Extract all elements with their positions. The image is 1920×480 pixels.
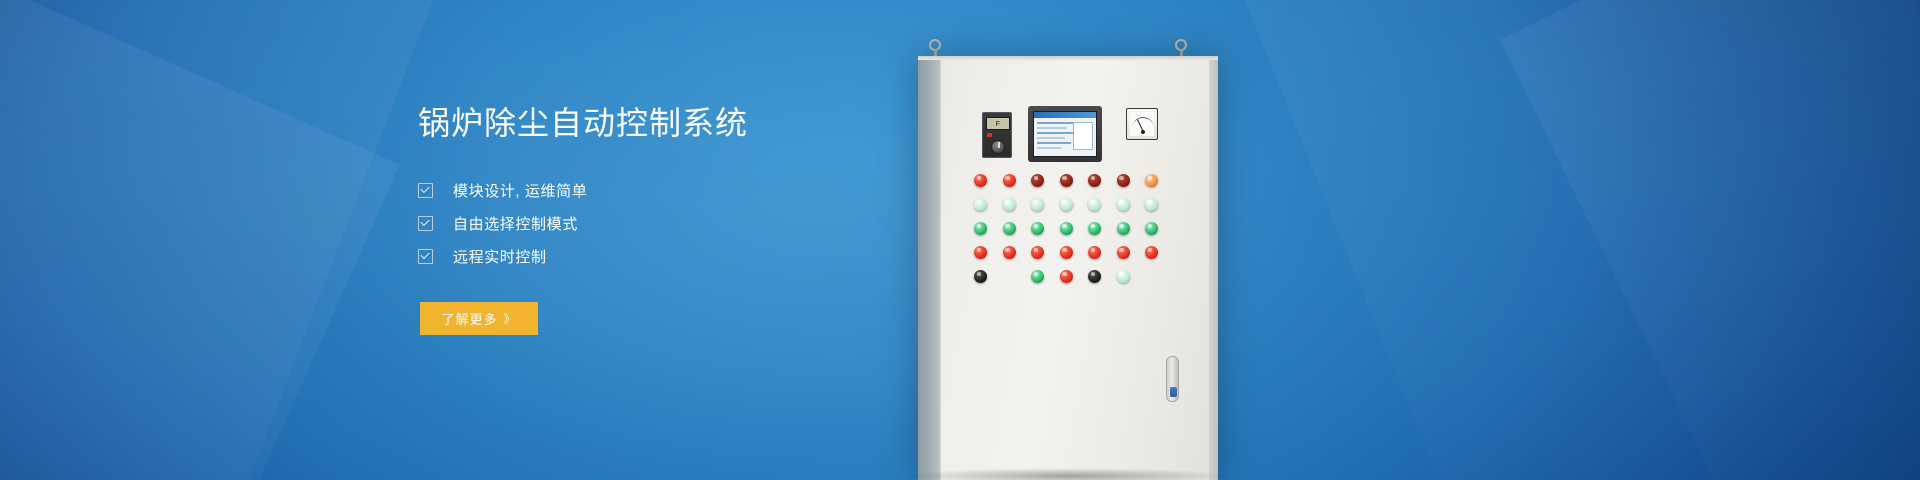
feature-list: 模块设计, 运维简单 自由选择控制模式 远程实时控制 [418,174,938,273]
learn-more-label: 了解更多 [441,309,497,328]
cabinet-right-edge [1209,56,1218,480]
analog-meter [1126,108,1158,140]
lock-icon[interactable] [1170,387,1177,397]
indicator-lamp-none [1003,270,1016,283]
indicator-lamp-red[interactable] [1060,270,1073,283]
indicator-lamp-green[interactable] [1031,270,1044,283]
indicator-lamp-red[interactable] [974,174,987,187]
indicator-lamp-black[interactable] [974,270,987,283]
hero-copy-block: 锅炉除尘自动控制系统 模块设计, 运维简单 自由选择控制模式 远程实时控制 [418,100,938,335]
frequency-display-module[interactable]: F 50.0 [982,112,1012,158]
indicator-lamp-lgreen[interactable] [1117,198,1130,211]
indicator-lamp-green[interactable] [1031,222,1044,235]
indicator-lamp-red[interactable] [1117,246,1130,259]
background-light-streak [1500,0,1920,480]
indicator-lamp-dred[interactable] [1031,174,1044,187]
hmi-screen[interactable] [1033,111,1097,157]
control-cabinet-body: F 50.0 [918,56,1218,480]
indicator-lamp-green[interactable] [974,222,987,235]
list-item-label: 模块设计, 运维简单 [453,180,587,201]
indicator-lamp-green[interactable] [1117,222,1130,235]
list-item: 远程实时控制 [418,240,938,273]
indicator-lamp-green[interactable] [1088,222,1101,235]
cabinet-floor-shadow [906,468,1230,480]
indicator-lamp-dred[interactable] [1060,174,1073,187]
list-item-label: 远程实时控制 [453,246,547,267]
checkbox-check-icon [418,249,433,264]
indicator-lamp-red[interactable] [1003,246,1016,259]
indicator-lamp-lgreen[interactable] [1088,198,1101,211]
lamp-row [974,246,1174,259]
hmi-side-panel [1073,122,1093,150]
lamp-row [974,198,1174,211]
indicator-lamp-green[interactable] [1003,222,1016,235]
indicator-lamp-dred[interactable] [1117,174,1130,187]
hmi-touchscreen[interactable] [1028,106,1102,162]
meter-hub [1141,130,1145,134]
power-led-icon [987,133,992,137]
indicator-lamp-lgreen[interactable] [1031,198,1044,211]
cabinet-door-handle[interactable] [1166,356,1179,402]
indicator-lamp-none [1145,270,1158,283]
indicator-lamp-lgreen[interactable] [1117,270,1130,283]
cabinet-door-seam [940,56,941,480]
lamp-row [974,270,1174,283]
indicator-lamp-red[interactable] [1031,246,1044,259]
indicator-lamp-lgreen[interactable] [1145,198,1158,211]
cabinet-hinge-strip [918,56,940,480]
checkbox-check-icon [418,183,433,198]
hmi-text-row [1037,132,1073,134]
checkbox-check-icon [418,216,433,231]
list-item: 自由选择控制模式 [418,207,938,240]
hmi-text-row [1037,137,1065,139]
indicator-lamp-red[interactable] [1003,174,1016,187]
learn-more-button[interactable]: 了解更多 》 [420,302,538,335]
list-item: 模块设计, 运维简单 [418,174,938,207]
indicator-lamp-black[interactable] [1088,270,1101,283]
indicator-lamp-lgreen[interactable] [1003,198,1016,211]
indicator-lamp-red[interactable] [1145,246,1158,259]
list-item-label: 自由选择控制模式 [453,213,578,234]
hmi-titlebar [1034,112,1096,118]
indicator-lamp-green[interactable] [1145,222,1158,235]
hmi-text-row [1037,147,1061,149]
rotary-knob[interactable] [991,140,1005,154]
control-cabinet-photo: F 50.0 [900,0,1540,480]
hmi-text-row [1037,127,1067,129]
hmi-text-row [1037,142,1071,144]
indicator-lamp-grid [974,174,1174,294]
page-title: 锅炉除尘自动控制系统 [418,100,938,146]
indicator-lamp-red[interactable] [974,246,987,259]
lifting-eyebolt-icon [928,39,942,57]
meter-face [1130,112,1154,136]
indicator-lamp-green[interactable] [1060,222,1073,235]
background-light-streak [0,0,452,480]
indicator-lamp-red[interactable] [1088,246,1101,259]
lifting-eyebolt-icon [1174,39,1188,57]
indicator-lamp-lgreen[interactable] [974,198,987,211]
frequency-readout: F 50.0 [986,117,1010,130]
indicator-lamp-red[interactable] [1060,246,1073,259]
hero-banner: 锅炉除尘自动控制系统 模块设计, 运维简单 自由选择控制模式 远程实时控制 [0,0,1920,480]
lamp-row [974,222,1174,235]
chevron-right-icon: 》 [504,310,517,327]
indicator-lamp-lgreen[interactable] [1060,198,1073,211]
background-light-streak [0,0,399,480]
indicator-lamp-orange[interactable] [1145,174,1158,187]
hmi-text-row [1037,122,1075,124]
cabinet-top-edge [918,56,1218,60]
meter-scale-arc [1132,117,1154,128]
lamp-row [974,174,1174,187]
indicator-lamp-dred[interactable] [1088,174,1101,187]
